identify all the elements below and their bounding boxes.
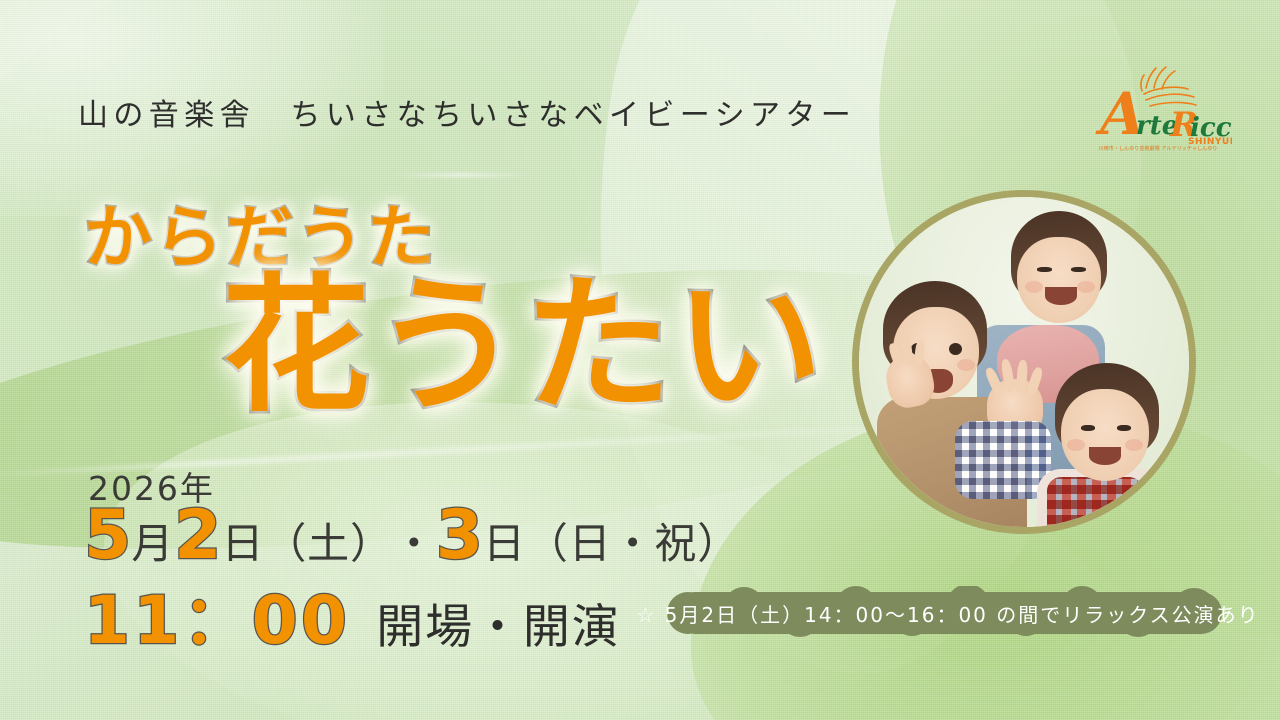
baby-right-cheek-right <box>1125 439 1143 451</box>
babies-photo <box>852 190 1196 534</box>
month-number: 5 <box>84 502 131 570</box>
baby-top-eye-right <box>1071 267 1086 272</box>
baby-top-cheek-right <box>1077 281 1095 293</box>
date-separator: ・ <box>393 523 436 565</box>
day1-number: 2 <box>174 502 221 570</box>
relax-banner-text: ☆ 5月2日（土）14：00〜16：00 の間でリラックス公演あり <box>648 586 1248 640</box>
baby-top-mouth <box>1045 287 1077 305</box>
day2-number: 3 <box>436 502 483 570</box>
baby-left-eye-right <box>949 343 962 355</box>
time-label: 開場・開演 <box>376 604 620 651</box>
day1-label: 日（土） <box>222 523 393 565</box>
title-large: 花うたい <box>222 272 826 420</box>
baby-right-eye-right <box>1117 425 1131 431</box>
time-line: 11：00 開場・開演 <box>84 588 621 654</box>
baby-top-eye-left <box>1037 267 1052 272</box>
photo-image <box>859 197 1189 527</box>
baby-right-face <box>1061 389 1149 481</box>
baby-left-cheek-right <box>957 359 975 371</box>
poster-canvas: 山の音楽舎 ちいさなちいさなベイビーシアター A rte R icca SHI <box>0 0 1280 720</box>
baby-right-cheek-left <box>1067 439 1085 451</box>
arte-ricca-logo[interactable]: A rte R icca SHINYURI 川崎市・しんゆり芸術劇場 アルテリッ… <box>1084 58 1232 150</box>
time-value: 11：00 <box>84 588 350 654</box>
month-kanji: 月 <box>131 523 174 565</box>
baby-top-cheek-left <box>1025 281 1043 293</box>
date-line: 5 月 2 日（土） ・ 3 日（日・祝） <box>84 502 740 570</box>
header-subtitle: 山の音楽舎 ちいさなちいさなベイビーシアター <box>78 90 856 134</box>
baby-right-mouth <box>1089 447 1121 465</box>
baby-right-eye-left <box>1081 425 1095 431</box>
baby-top-face <box>1017 237 1101 323</box>
background-highlight-streak-2 <box>384 173 538 177</box>
logo-subtext: 川崎市・しんゆり芸術劇場 アルテリッチャしんゆり <box>1084 145 1232 152</box>
day2-label: 日（日・祝） <box>483 523 740 565</box>
relax-performance-banner: ☆ 5月2日（土）14：00〜16：00 の間でリラックス公演あり <box>648 586 1248 640</box>
baby-right-plaid <box>1047 477 1143 534</box>
